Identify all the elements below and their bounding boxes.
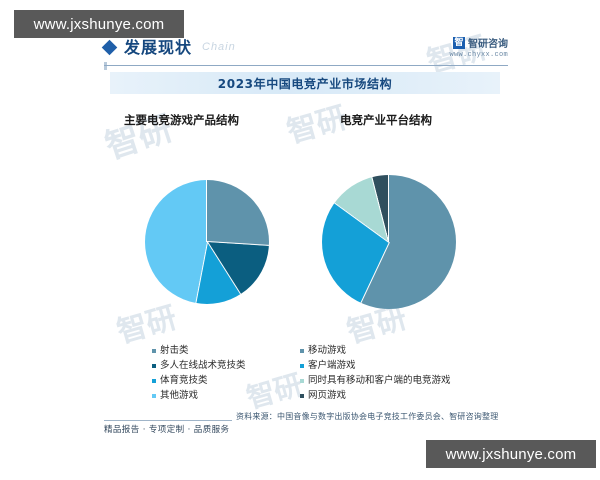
- brand-logo: 智 智研咨询 www.chyxx.com: [449, 35, 508, 59]
- ghost-watermark: 智研: [111, 293, 181, 352]
- legend-label: 射击类: [160, 344, 189, 357]
- banner-title: 2023年中国电竞产业市场结构: [218, 75, 392, 92]
- legend-label: 多人在线战术竞技类: [160, 359, 246, 372]
- pie-slice-separators: [322, 175, 456, 309]
- logo-name: 智研咨询: [468, 35, 508, 50]
- legend-item[interactable]: 客户端游戏: [300, 359, 451, 372]
- slide-header: 发展现状 Chain 智 智研咨询 www.chyxx.com: [104, 34, 508, 64]
- chart-banner: 2023年中国电竞产业市场结构: [110, 72, 500, 94]
- legend-item[interactable]: 同时具有移动和客户端的电竞游戏: [300, 374, 451, 387]
- footer-rule: [104, 420, 232, 421]
- pie-slice-divider: [206, 180, 207, 242]
- section-subtitle: Chain: [202, 41, 236, 53]
- header-rule: [104, 65, 508, 66]
- watermark-top: www.jxshunye.com: [14, 10, 184, 38]
- pie-slice-divider: [360, 242, 389, 303]
- chart-title-right: 电竞产业平台结构: [340, 112, 432, 128]
- legend-item[interactable]: 其他游戏: [152, 389, 246, 402]
- legend-swatch-icon: [300, 364, 304, 368]
- logo-url: www.chyxx.com: [449, 51, 508, 59]
- legend-item[interactable]: 多人在线战术竞技类: [152, 359, 246, 372]
- pie-slice-divider: [388, 175, 389, 242]
- legend-label: 体育竞技类: [160, 374, 208, 387]
- logo-mark-icon: 智: [453, 37, 465, 49]
- legend-item[interactable]: 体育竞技类: [152, 374, 246, 387]
- legend-swatch-icon: [152, 394, 156, 398]
- legend-swatch-icon: [300, 394, 304, 398]
- pie-slice-divider: [207, 241, 269, 246]
- slide-canvas: 智研 智研 智研 智研 智研 智研 发展现状 Chain 智 智研咨询 www.…: [0, 0, 600, 480]
- watermark-bottom: www.jxshunye.com: [426, 440, 596, 468]
- legend-left: 射击类多人在线战术竞技类体育竞技类其他游戏: [152, 344, 246, 404]
- ghost-watermark: 智研: [242, 363, 307, 417]
- legend-label: 同时具有移动和客户端的电竞游戏: [308, 374, 451, 387]
- legend-swatch-icon: [300, 379, 304, 383]
- page-margin-right: [516, 0, 600, 480]
- diamond-bullet-icon: [102, 40, 118, 56]
- pie-slice-divider: [334, 203, 389, 243]
- page-margin-left: [0, 0, 96, 480]
- pie-slice-separators: [145, 180, 269, 304]
- pie-slice-divider: [207, 241, 241, 294]
- chart-title-left: 主要电竞游戏产品结构: [124, 112, 239, 128]
- legend-swatch-icon: [152, 379, 156, 383]
- legend-label: 客户端游戏: [308, 359, 356, 372]
- pie-chart-right: [322, 175, 456, 309]
- legend-item[interactable]: 移动游戏: [300, 344, 451, 357]
- legend-swatch-icon: [152, 364, 156, 368]
- pie-slice-divider: [371, 177, 389, 242]
- legend-label: 其他游戏: [160, 389, 198, 402]
- legend-label: 移动游戏: [308, 344, 346, 357]
- legend-swatch-icon: [300, 349, 304, 353]
- legend-item[interactable]: 射击类: [152, 344, 246, 357]
- legend-swatch-icon: [152, 349, 156, 353]
- pie-slice-divider: [195, 242, 208, 303]
- footer-source: 资料来源：中国音像与数字出版协会电子竞技工作委员会、智研咨询整理: [236, 411, 498, 422]
- header-rule-accent: [104, 62, 107, 70]
- legend-label: 网页游戏: [308, 389, 346, 402]
- footer-tagline: 精品报告 · 专项定制 · 品质服务: [104, 423, 229, 435]
- legend-item[interactable]: 网页游戏: [300, 389, 451, 402]
- ghost-watermark: 智研: [98, 101, 178, 169]
- legend-right: 移动游戏客户端游戏同时具有移动和客户端的电竞游戏网页游戏: [300, 344, 451, 404]
- pie-chart-left: [145, 180, 269, 304]
